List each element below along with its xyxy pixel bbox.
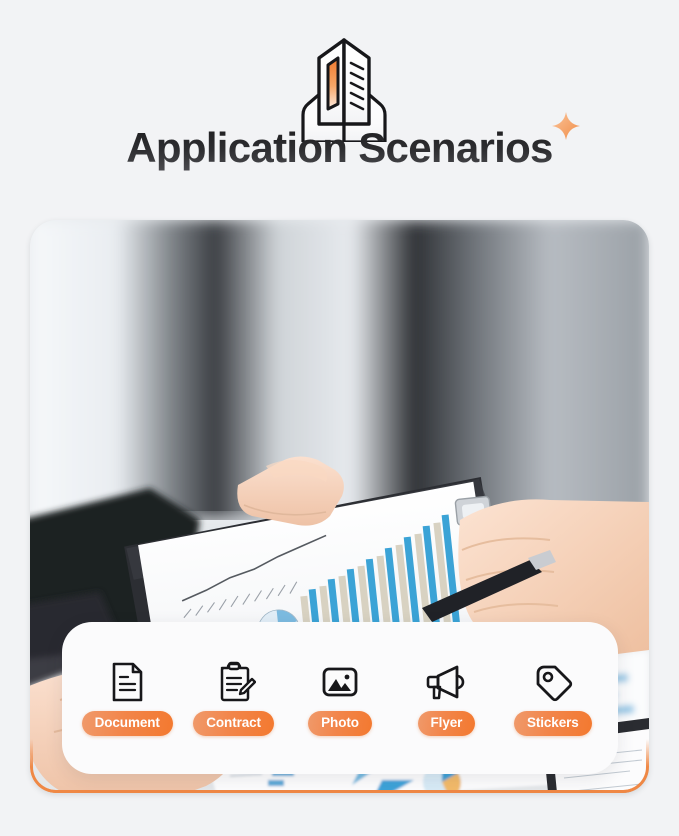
image-icon — [318, 660, 362, 704]
category-item-document[interactable]: Document — [74, 660, 180, 736]
category-label-stickers: Stickers — [514, 711, 592, 736]
category-item-contract[interactable]: Contract — [180, 660, 286, 736]
title-row: Application Scenarios — [0, 127, 679, 169]
category-item-flyer[interactable]: Flyer — [393, 660, 499, 736]
category-item-stickers[interactable]: Stickers — [500, 660, 606, 736]
document-icon — [105, 660, 149, 704]
clipboard-pencil-icon — [212, 660, 256, 704]
megaphone-icon — [424, 660, 468, 704]
category-list: Document Contract — [62, 622, 618, 774]
sparkle-icon — [551, 111, 581, 141]
category-card: Document Contract — [62, 622, 618, 774]
page-header: Application Scenarios — [0, 0, 679, 210]
category-label-contract: Contract — [193, 711, 274, 736]
page-title: Application Scenarios — [126, 124, 552, 171]
category-label-flyer: Flyer — [418, 711, 476, 736]
category-label-document: Document — [82, 711, 173, 736]
category-label-photo: Photo — [308, 711, 372, 736]
tag-icon — [531, 660, 575, 704]
category-item-photo[interactable]: Photo — [287, 660, 393, 736]
